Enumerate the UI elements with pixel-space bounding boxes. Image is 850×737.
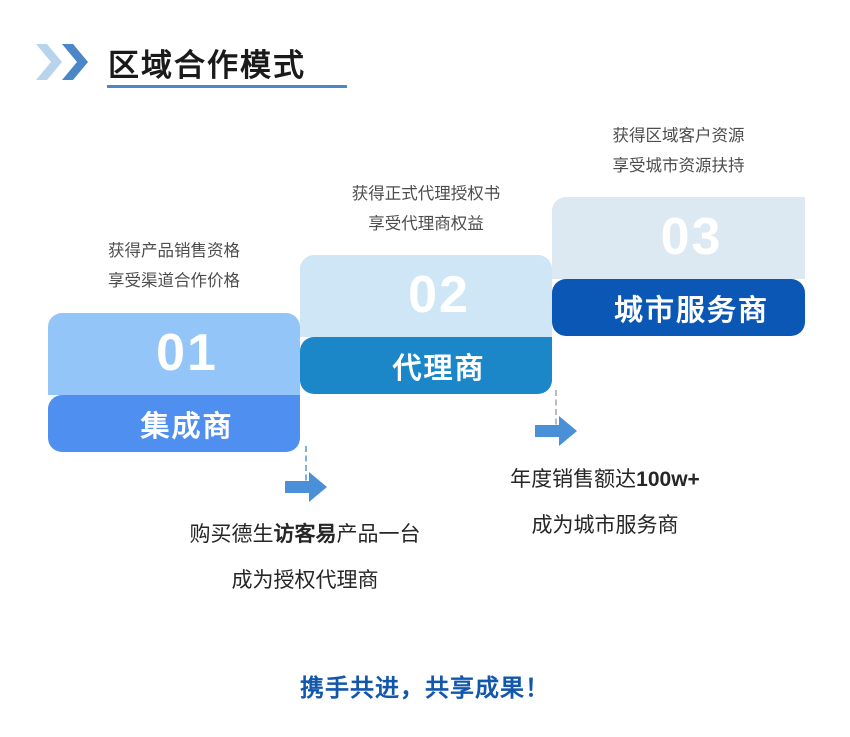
- tier-caption-line2: 享受城市资源扶持: [552, 151, 805, 181]
- tier-number: 03: [552, 203, 805, 271]
- connector-02-to-03: [535, 390, 579, 460]
- requirement-prefix: 购买德生: [190, 523, 274, 546]
- requirement-highlight: 100w+: [636, 468, 700, 491]
- tier-number: 01: [48, 319, 300, 387]
- tier-number: 02: [300, 261, 552, 329]
- tier-card-body[interactable]: 03 城市服务商: [552, 197, 805, 336]
- connector-01-to-02: [285, 446, 329, 516]
- requirement-prefix: 年度销售额达: [510, 468, 636, 491]
- tier-card-band: 城市服务商: [552, 279, 805, 336]
- tier-card-body[interactable]: 02 代理商: [300, 255, 552, 394]
- tier-caption-line1: 获得产品销售资格: [48, 236, 300, 266]
- tier-label: 城市服务商: [588, 287, 769, 329]
- requirement-line2: 成为授权代理商: [80, 558, 530, 604]
- requirement-02: 年度销售额达100w+ 成为城市服务商: [370, 457, 840, 549]
- arrow-right-icon: [535, 416, 577, 446]
- tier-card-band: 集成商: [48, 395, 300, 452]
- tier-caption-line2: 享受渠道合作价格: [48, 266, 300, 296]
- tier-label: 代理商: [366, 345, 485, 387]
- tier-card-top: 03: [552, 197, 805, 279]
- requirement-line1: 年度销售额达100w+: [370, 457, 840, 503]
- tier-label: 集成商: [114, 403, 233, 445]
- tier-card-body[interactable]: 01 集成商: [48, 313, 300, 452]
- arrow-right-icon: [285, 472, 327, 502]
- tier-card-top: 02: [300, 255, 552, 337]
- tier-card-band: 代理商: [300, 337, 552, 394]
- tier-caption-line1: 获得正式代理授权书: [300, 179, 552, 209]
- tier-caption-line1: 获得区域客户资源: [552, 121, 805, 151]
- requirement-highlight: 访客易: [274, 523, 337, 546]
- partnership-tiers: 获得产品销售资格 享受渠道合作价格 01 集成商 获得正式代理授权书 享受代理商…: [0, 0, 850, 737]
- tier-card-top: 01: [48, 313, 300, 395]
- footer-slogan: 携手共进，共享成果！: [0, 668, 850, 703]
- tier-caption-line2: 享受代理商权益: [300, 209, 552, 239]
- requirement-line2: 成为城市服务商: [370, 503, 840, 549]
